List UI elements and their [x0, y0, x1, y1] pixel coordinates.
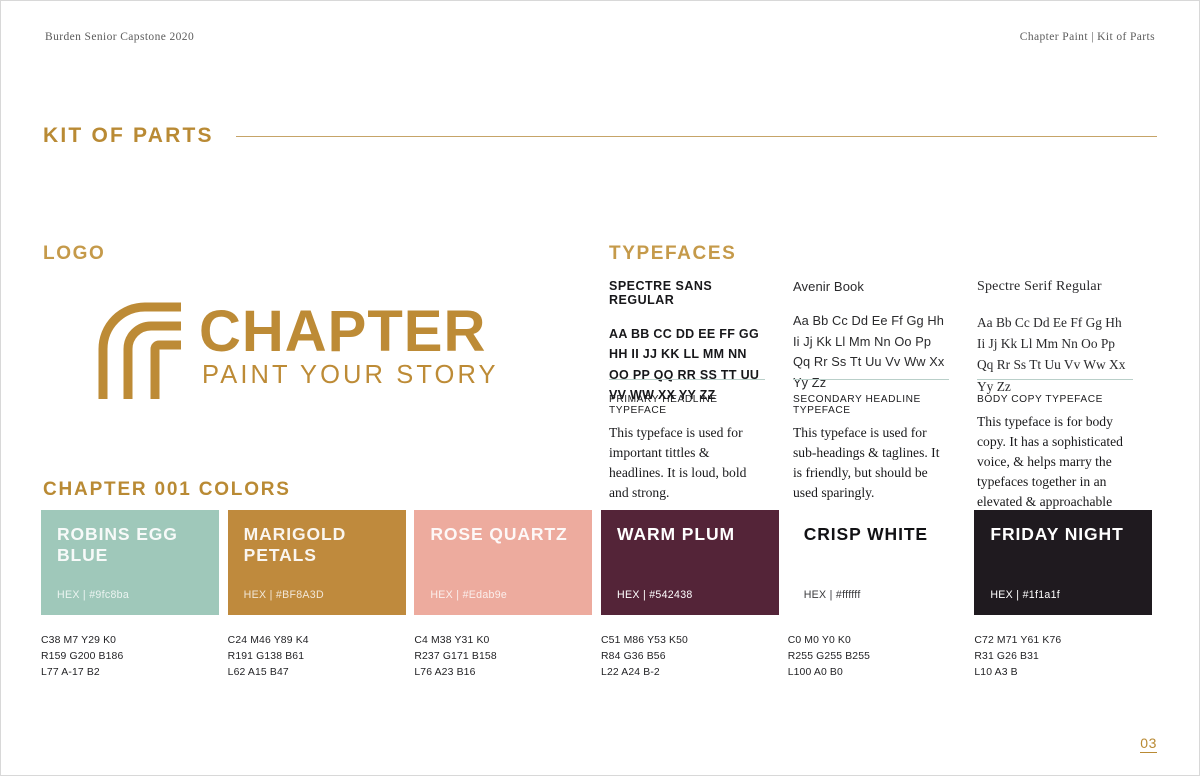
typeface-role: BODY COPY TYPEFACE [977, 394, 1133, 405]
color-name: ROBINS EGG BLUE [57, 524, 203, 567]
title-divider [236, 136, 1157, 137]
color-hex: HEX | #542438 [617, 589, 763, 601]
color-swatch-cell: WARM PLUM HEX | #542438 C51 M86 Y53 K50 … [601, 510, 788, 680]
description-divider [609, 379, 765, 380]
color-rgb: R237 G171 B158 [414, 649, 601, 665]
colors-section-heading: CHAPTER 001 COLORS [43, 479, 291, 501]
color-swatch-cell: CRISP WHITE HEX | #ffffff C0 M0 Y0 K0 R2… [788, 510, 975, 680]
color-hex: HEX | #BF8A3D [244, 589, 390, 601]
header-right-text: Chapter Paint | Kit of Parts [1020, 31, 1155, 43]
color-name: WARM PLUM [617, 524, 763, 545]
typefaces-section-heading: TYPEFACES [609, 243, 736, 265]
color-swatch-cell: ROSE QUARTZ HEX | #Edab9e C4 M38 Y31 K0 … [414, 510, 601, 680]
typeface-description: This typeface is used for important titt… [609, 423, 765, 503]
color-cmyk: C38 M7 Y29 K0 [41, 633, 228, 649]
color-rgb: R159 G200 B186 [41, 649, 228, 665]
color-name: MARIGOLD PETALS [244, 524, 390, 567]
typeface-name: Avenir Book [793, 279, 949, 294]
typeface-name: SPECTRE SANS REGULAR [609, 279, 765, 307]
style-guide-page: Burden Senior Capstone 2020 Chapter Pain… [0, 0, 1200, 776]
color-swatch: ROBINS EGG BLUE HEX | #9fc8ba [41, 510, 219, 615]
color-swatch: ROSE QUARTZ HEX | #Edab9e [414, 510, 592, 615]
color-hex: HEX | #9fc8ba [57, 589, 203, 601]
logo-section-heading: LOGO [43, 243, 105, 265]
color-values: C72 M71 Y61 K76 R31 G26 B31 L10 A3 B [974, 633, 1161, 680]
color-swatch-row: ROBINS EGG BLUE HEX | #9fc8ba C38 M7 Y29… [41, 510, 1161, 680]
color-values: C24 M46 Y89 K4 R191 G138 B61 L62 A15 B47 [228, 633, 415, 680]
color-values: C51 M86 Y53 K50 R84 G36 B56 L22 A24 B-2 [601, 633, 788, 680]
color-cmyk: C4 M38 Y31 K0 [414, 633, 601, 649]
kit-of-parts-title-row: KIT OF PARTS [43, 124, 1157, 148]
color-swatch: WARM PLUM HEX | #542438 [601, 510, 779, 615]
color-values: C38 M7 Y29 K0 R159 G200 B186 L77 A-17 B2 [41, 633, 228, 680]
color-swatch: FRIDAY NIGHT HEX | #1f1a1f [974, 510, 1152, 615]
color-name: ROSE QUARTZ [430, 524, 576, 545]
color-rgb: R191 G138 B61 [228, 649, 415, 665]
color-swatch-cell: MARIGOLD PETALS HEX | #BF8A3D C24 M46 Y8… [228, 510, 415, 680]
color-lab: L77 A-17 B2 [41, 665, 228, 681]
description-divider [977, 379, 1133, 380]
color-hex: HEX | #1f1a1f [990, 589, 1136, 601]
page-number: 03 [1140, 735, 1157, 753]
color-values: C4 M38 Y31 K0 R237 G171 B158 L76 A23 B16 [414, 633, 601, 680]
logo-wordmark: CHAPTER [199, 304, 499, 360]
color-swatch: MARIGOLD PETALS HEX | #BF8A3D [228, 510, 406, 615]
description-divider [793, 379, 949, 380]
color-lab: L22 A24 B-2 [601, 665, 788, 681]
color-cmyk: C72 M71 Y61 K76 [974, 633, 1161, 649]
color-hex: HEX | #Edab9e [430, 589, 576, 601]
color-lab: L10 A3 B [974, 665, 1161, 681]
typeface-role: SECONDARY HEADLINE TYPEFACE [793, 394, 949, 416]
color-swatch: CRISP WHITE HEX | #ffffff [788, 510, 966, 615]
header-left-text: Burden Senior Capstone 2020 [45, 31, 194, 43]
color-values: C0 M0 Y0 K0 R255 G255 B255 L100 A0 B0 [788, 633, 975, 680]
logo-lockup: CHAPTER PAINT YOUR STORY [89, 289, 559, 407]
typeface-role: PRIMARY HEADLINE TYPEFACE [609, 394, 765, 416]
color-swatch-cell: ROBINS EGG BLUE HEX | #9fc8ba C38 M7 Y29… [41, 510, 228, 680]
color-cmyk: C24 M46 Y89 K4 [228, 633, 415, 649]
color-rgb: R84 G36 B56 [601, 649, 788, 665]
color-rgb: R31 G26 B31 [974, 649, 1161, 665]
color-cmyk: C0 M0 Y0 K0 [788, 633, 975, 649]
color-cmyk: C51 M86 Y53 K50 [601, 633, 788, 649]
logo-tagline: PAINT YOUR STORY [199, 360, 499, 392]
color-name: FRIDAY NIGHT [990, 524, 1136, 545]
typeface-description: This typeface is used for sub-headings &… [793, 423, 949, 503]
running-header: Burden Senior Capstone 2020 Chapter Pain… [45, 31, 1155, 43]
color-lab: L100 A0 B0 [788, 665, 975, 681]
color-name: CRISP WHITE [804, 524, 950, 545]
color-lab: L62 A15 B47 [228, 665, 415, 681]
page-title: KIT OF PARTS [43, 124, 214, 148]
color-hex: HEX | #ffffff [804, 589, 950, 601]
typeface-name: Spectre Serif Regular [977, 279, 1133, 295]
color-lab: L76 A23 B16 [414, 665, 601, 681]
concentric-c-arcs-icon [89, 293, 185, 403]
color-rgb: R255 G255 B255 [788, 649, 975, 665]
color-swatch-cell: FRIDAY NIGHT HEX | #1f1a1f C72 M71 Y61 K… [974, 510, 1161, 680]
